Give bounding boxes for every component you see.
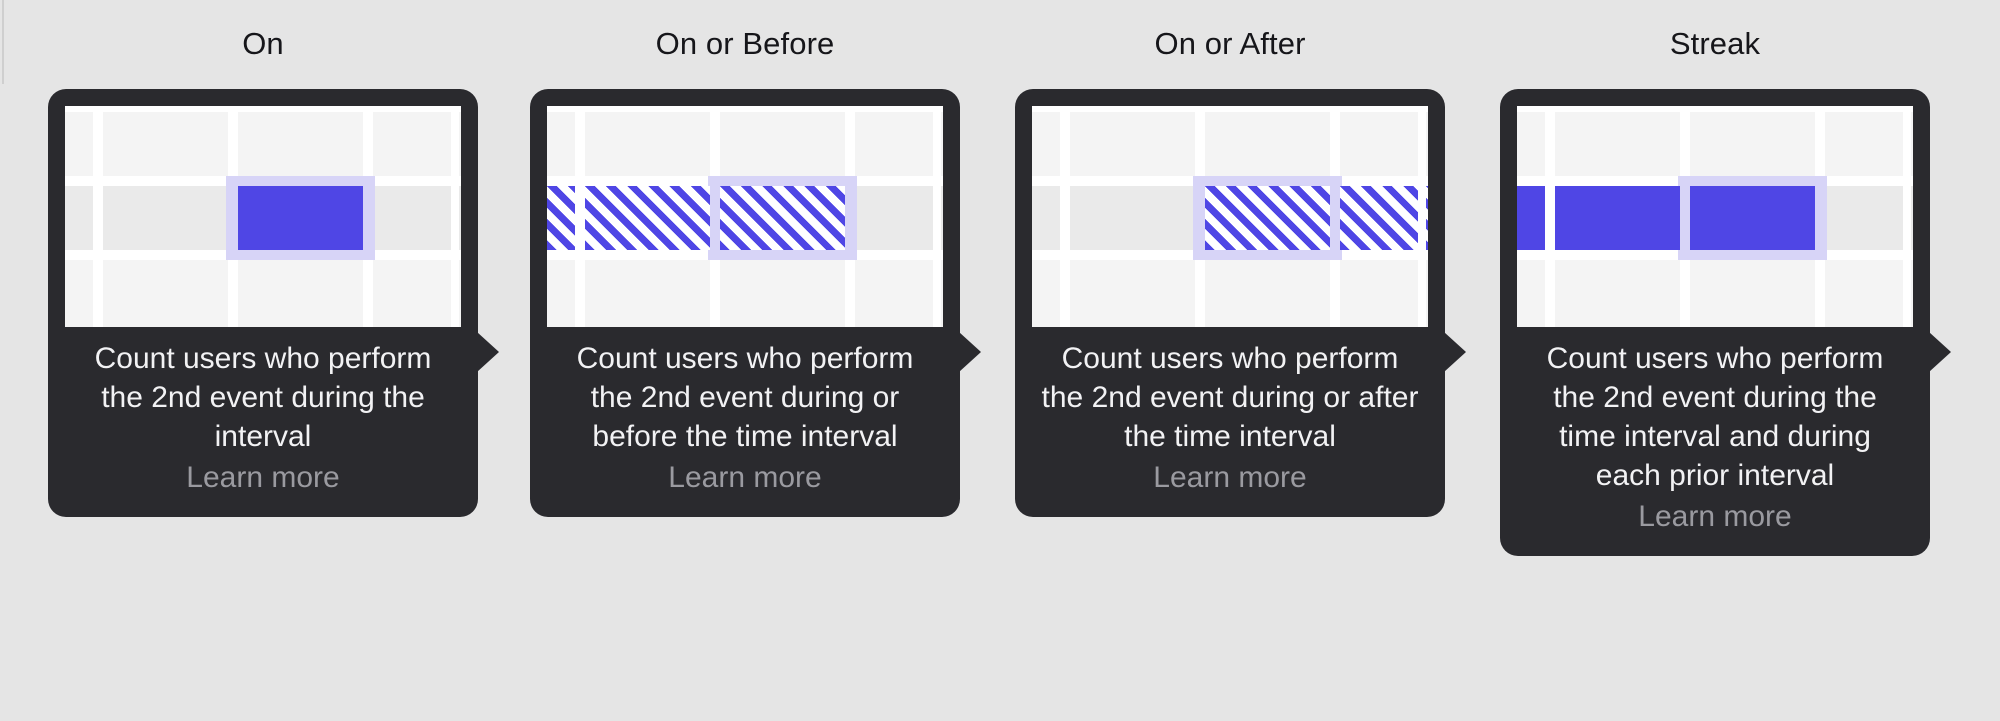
attribution-window-options-board: On (0, 0, 2000, 721)
grid-cell (720, 112, 845, 176)
hatched-blue-span (1426, 186, 1428, 250)
solid-blue-span (1517, 186, 1545, 250)
grid-cell (373, 112, 451, 176)
hatched-blue-span (1340, 186, 1418, 250)
learn-more-link-on-or-after[interactable]: Learn more (1032, 456, 1428, 497)
learn-more-link-on[interactable]: Learn more (65, 456, 461, 497)
grid-cell (1555, 112, 1680, 176)
grid-cell (941, 260, 943, 327)
card-wrap-on: Count users who perform the 2nd event du… (48, 89, 478, 517)
grid-cell (1911, 112, 1913, 176)
diagram-on-or-after (1032, 106, 1428, 327)
grid-cell (1340, 112, 1418, 176)
card-description-on-or-before: Count users who perform the 2nd event du… (547, 327, 943, 456)
hatched-blue-span (547, 186, 575, 250)
grid-cell (65, 112, 93, 176)
grid-cell (1911, 186, 1913, 250)
diagram-streak (1517, 106, 1913, 327)
grid-cell (585, 260, 710, 327)
diagram-on-or-before (547, 106, 943, 327)
grid-cell (65, 186, 93, 250)
option-column-on-or-after: On or After (1015, 0, 1445, 517)
grid-cell (103, 112, 228, 176)
column-heading-on-or-before: On or Before (530, 0, 960, 61)
option-column-on-or-before: On or Before (530, 0, 960, 517)
card-streak[interactable]: Count users who perform the 2nd event du… (1500, 89, 1930, 556)
grid-cell (941, 186, 943, 250)
grid-cell (1032, 112, 1060, 176)
card-description-streak: Count users who perform the 2nd event du… (1517, 327, 1913, 495)
grid-cell (1205, 112, 1330, 176)
column-heading-on-or-after: On or After (1015, 0, 1445, 61)
grid-cell (1070, 186, 1195, 250)
grid-cell (547, 260, 575, 327)
grid-cell (720, 260, 845, 327)
option-column-streak: Streak (1500, 0, 1930, 556)
solid-blue-block (238, 186, 363, 250)
grid-cell (373, 260, 451, 327)
grid-cell (941, 112, 943, 176)
grid-cell (1340, 260, 1418, 327)
card-tail-streak (1929, 332, 1951, 372)
learn-more-link-on-or-before[interactable]: Learn more (547, 456, 943, 497)
hatched-blue-span (585, 186, 710, 250)
hatched-blue-span (1205, 186, 1330, 250)
card-tail-on (477, 332, 499, 372)
solid-blue-span (1555, 186, 1680, 250)
card-description-on-or-after: Count users who perform the 2nd event du… (1032, 327, 1428, 456)
grid-cell (373, 186, 451, 250)
grid-cell (1517, 112, 1545, 176)
grid-cell (1426, 112, 1428, 176)
grid-cell (585, 112, 710, 176)
grid-cell (238, 112, 363, 176)
grid-cell (855, 260, 933, 327)
grid-cell (1070, 260, 1195, 327)
grid-cell (238, 260, 363, 327)
card-wrap-on-or-before: Count users who perform the 2nd event du… (530, 89, 960, 517)
grid-cell (1555, 260, 1680, 327)
grid-cell (1032, 260, 1060, 327)
hatched-blue-span (720, 186, 845, 250)
grid-cell (65, 260, 93, 327)
card-tail-on-or-after (1444, 332, 1466, 372)
card-tail-on-or-before (959, 332, 981, 372)
grid-cell (855, 112, 933, 176)
column-heading-on: On (48, 0, 478, 61)
grid-cell (1690, 260, 1815, 327)
grid-cell (459, 260, 461, 327)
card-on-or-before[interactable]: Count users who perform the 2nd event du… (530, 89, 960, 517)
grid-cell (1911, 260, 1913, 327)
grid-cell (103, 260, 228, 327)
column-heading-streak: Streak (1500, 0, 1930, 61)
grid-cell (1205, 260, 1330, 327)
option-column-on: On (48, 0, 478, 517)
card-on[interactable]: Count users who perform the 2nd event du… (48, 89, 478, 517)
grid-cell (1032, 186, 1060, 250)
learn-more-link-streak[interactable]: Learn more (1517, 495, 1913, 536)
grid-cell (1825, 112, 1903, 176)
grid-cell (1825, 186, 1903, 250)
grid-cell (855, 186, 933, 250)
grid-cell (1426, 260, 1428, 327)
grid-cell (1825, 260, 1903, 327)
card-wrap-on-or-after: Count users who perform the 2nd event du… (1015, 89, 1445, 517)
grid-cell (1690, 112, 1815, 176)
card-on-or-after[interactable]: Count users who perform the 2nd event du… (1015, 89, 1445, 517)
grid-cell (1517, 260, 1545, 327)
solid-blue-span (1690, 186, 1815, 250)
card-wrap-streak: Count users who perform the 2nd event du… (1500, 89, 1930, 556)
grid-cell (1070, 112, 1195, 176)
grid-cell (547, 112, 575, 176)
diagram-on (65, 106, 461, 327)
grid-cell (103, 186, 228, 250)
grid-cell (459, 112, 461, 176)
grid-cell (459, 186, 461, 250)
card-description-on: Count users who perform the 2nd event du… (65, 327, 461, 456)
